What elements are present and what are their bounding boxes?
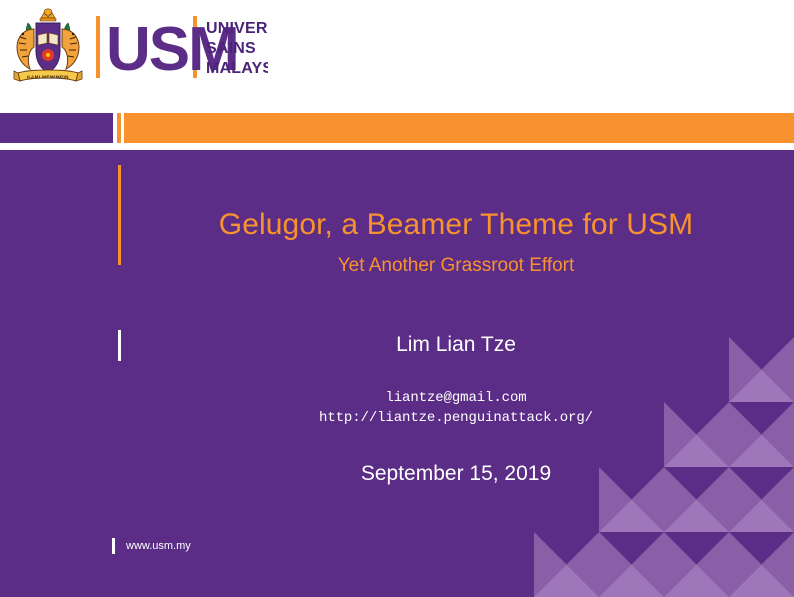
svg-text:UNIVERSITI: UNIVERSITI bbox=[206, 20, 268, 37]
slide-footer: www.usm.my bbox=[112, 537, 191, 555]
header-accent-bar-orange bbox=[124, 113, 794, 143]
page-title: Gelugor, a Beamer Theme for USM bbox=[124, 208, 788, 243]
footer-website[interactable]: www.usm.my bbox=[126, 540, 191, 552]
footer-accent-tick bbox=[112, 538, 115, 554]
usm-wordmark: USM UNIVERSITI SAINS MALAYSIA bbox=[96, 12, 268, 84]
slide-header: KAMI MEMIMPIN USM UNIVERSITI SAINS MALAY… bbox=[0, 0, 794, 113]
author-accent-rule bbox=[118, 330, 121, 361]
contact-group: liantze@gmail.com http://liantze.penguin… bbox=[124, 388, 788, 429]
usm-crest-icon: KAMI MEMIMPIN bbox=[8, 7, 88, 89]
presentation-title-slide: KAMI MEMIMPIN USM UNIVERSITI SAINS MALAY… bbox=[0, 0, 794, 597]
author-website-url[interactable]: http://liantze.penguinattack.org/ bbox=[124, 408, 788, 428]
svg-text:KAMI MEMIMPIN: KAMI MEMIMPIN bbox=[27, 75, 69, 80]
header-accent-tick-orange bbox=[117, 113, 121, 143]
svg-text:SAINS: SAINS bbox=[206, 40, 256, 57]
header-accent-bar-purple bbox=[0, 113, 113, 143]
author-email[interactable]: liantze@gmail.com bbox=[124, 388, 788, 408]
svg-text:MALAYSIA: MALAYSIA bbox=[206, 60, 268, 77]
author-name: Lim Lian Tze bbox=[124, 333, 788, 357]
usm-logo: KAMI MEMIMPIN USM UNIVERSITI SAINS MALAY… bbox=[8, 6, 268, 90]
title-group: Gelugor, a Beamer Theme for USM Yet Anot… bbox=[124, 208, 788, 276]
date-group: September 15, 2019 bbox=[124, 462, 788, 486]
title-accent-rule bbox=[118, 165, 121, 265]
page-subtitle: Yet Another Grassroot Effort bbox=[124, 255, 788, 277]
author-group: Lim Lian Tze bbox=[124, 333, 788, 357]
presentation-date: September 15, 2019 bbox=[124, 462, 788, 486]
